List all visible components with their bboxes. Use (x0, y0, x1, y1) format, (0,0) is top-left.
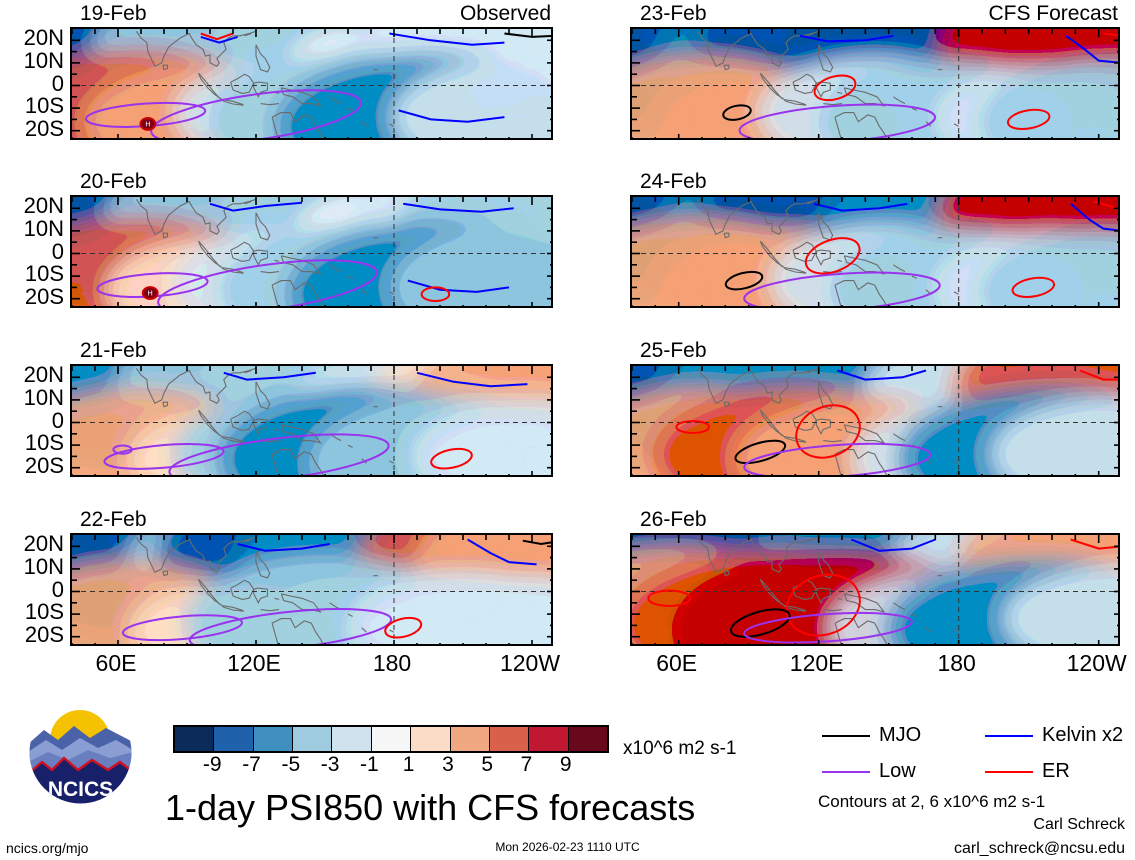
colorbar-segment (254, 727, 293, 751)
legend-line-swatch (822, 771, 870, 773)
x-axis-tick-label-right: 120E (785, 652, 849, 675)
plot-area (630, 364, 1120, 477)
colorbar-tick-label: -1 (347, 754, 391, 775)
panel-date-label: 22-Feb (80, 509, 147, 530)
colorbar-segment (293, 727, 332, 751)
colorbar (173, 725, 609, 753)
y-axis-tick-label: 20S (0, 118, 64, 140)
colorbar-segment (372, 727, 411, 751)
plot-area (70, 533, 553, 646)
plot-area (630, 533, 1120, 646)
colorbar-tick-label: 1 (387, 754, 431, 775)
y-axis-tick-label: 10S (0, 432, 64, 454)
colorbar-tick-label: -9 (190, 754, 234, 775)
y-axis-tick-label: 10S (0, 263, 64, 285)
colorbar-tick-label: 3 (426, 754, 470, 775)
y-axis-tick-label: 0 (0, 241, 64, 263)
colorbar-segment (175, 727, 214, 751)
y-axis-tick-label: 0 (0, 579, 64, 601)
legend-label: Low (879, 760, 916, 782)
legend-line-swatch (985, 735, 1033, 737)
colorbar-units-label: x10^6 m2 s-1 (623, 739, 736, 758)
plot-area: H (70, 27, 553, 140)
legend-item-kelvin-x2: Kelvin x2 (985, 724, 1123, 747)
panel-date-label: 20-Feb (80, 171, 147, 192)
y-axis-tick-label: 20N (0, 364, 64, 386)
panel-date-label: 26-Feb (640, 509, 707, 530)
colorbar-segment (332, 727, 371, 751)
plot-area (630, 27, 1120, 140)
colorbar-segment (411, 727, 450, 751)
y-axis-tick-label: 0 (0, 73, 64, 95)
legend-label: MJO (879, 724, 921, 746)
x-axis-tick-label-left: 180 (360, 652, 424, 675)
svg-text:H: H (148, 291, 153, 298)
ncics-logo-graphic: NCICS (28, 700, 133, 805)
panel-date-label: 23-Feb (640, 3, 707, 24)
panel-date-label: 19-Feb (80, 3, 147, 24)
legend-item-er: ER (985, 760, 1070, 783)
plot-area (630, 195, 1120, 308)
svg-text:NCICS: NCICS (48, 778, 113, 801)
colorbar-tick-label: -7 (230, 754, 274, 775)
y-axis-tick-label: 10S (0, 95, 64, 117)
colorbar-tick-label: -3 (308, 754, 352, 775)
column-header-forecast: CFS Forecast (988, 3, 1118, 24)
colorbar-segment (569, 727, 607, 751)
x-axis-tick-label-left: 120E (222, 652, 286, 675)
y-axis-tick-label: 10N (0, 556, 64, 578)
colorbar-tick-label: -5 (269, 754, 313, 775)
colorbar-segment (451, 727, 490, 751)
y-axis-tick-label: 20S (0, 455, 64, 477)
y-axis-tick-label: 20S (0, 624, 64, 646)
y-axis-tick-label: 0 (0, 410, 64, 432)
colorbar-tick-label: 7 (504, 754, 548, 775)
y-axis-tick-label: 10S (0, 601, 64, 623)
panel-date-label: 25-Feb (640, 340, 707, 361)
legend-label: ER (1042, 760, 1070, 782)
panel-date-label: 24-Feb (640, 171, 707, 192)
x-axis-tick-label-left: 120W (498, 652, 562, 675)
y-axis-tick-label: 20N (0, 195, 64, 217)
contours-note: Contours at 2, 6 x10^6 m2 s-1 (818, 793, 1045, 810)
legend-item-mjo: MJO (822, 724, 921, 747)
legend-line-swatch (822, 735, 870, 737)
svg-text:H: H (145, 121, 150, 128)
y-axis-tick-label: 10N (0, 50, 64, 72)
author-label: Carl Schreck (0, 817, 1125, 833)
colorbar-segment (490, 727, 529, 751)
y-axis-tick-label: 10N (0, 387, 64, 409)
colorbar-segment (214, 727, 253, 751)
x-axis-tick-label-right: 60E (645, 652, 709, 675)
panel-date-label: 21-Feb (80, 340, 147, 361)
x-axis-tick-label-right: 180 (925, 652, 989, 675)
plot-area: H (70, 195, 553, 308)
y-axis-tick-label: 20N (0, 27, 64, 49)
y-axis-tick-label: 10N (0, 218, 64, 240)
legend-line-swatch (985, 771, 1033, 773)
y-axis-tick-label: 20N (0, 533, 64, 555)
plot-area (70, 364, 553, 477)
colorbar-tick-label: 9 (544, 754, 588, 775)
ncics-logo: NCICS (28, 700, 133, 805)
x-axis-tick-label-left: 60E (84, 652, 148, 675)
legend-item-low: Low (822, 760, 916, 783)
x-axis-tick-label-right: 120W (1065, 652, 1129, 675)
y-axis-tick-label: 20S (0, 286, 64, 308)
colorbar-segment (529, 727, 568, 751)
colorbar-tick-label: 5 (465, 754, 509, 775)
column-header-observed: Observed (460, 3, 551, 24)
legend-label: Kelvin x2 (1042, 724, 1123, 746)
timestamp-label: Mon 2026-02-23 1110 UTC (0, 841, 1135, 853)
